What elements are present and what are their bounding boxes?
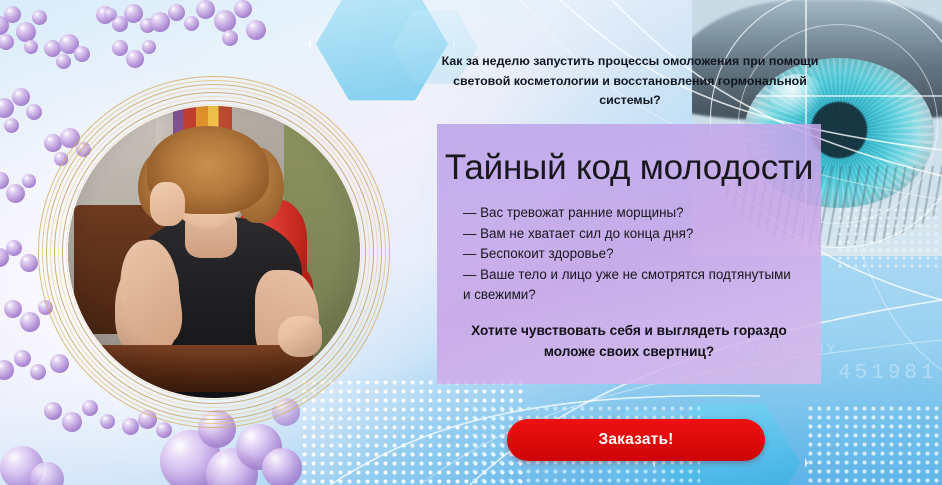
promo-banner: TECHNOLOGY 451981 MEDICAL <box>0 0 942 485</box>
cta-question-text: Хотите чувствовать себя и выглядеть гора… <box>451 320 807 362</box>
pain-point-list: — Вас тревожат ранние морщины? — Вам не … <box>463 203 805 306</box>
list-item: — Беспокоит здоровье? <box>463 244 805 265</box>
headline-text: Как за неделю запустить процессы омоложе… <box>436 52 824 111</box>
list-item-continuation: и свежими? <box>463 285 805 306</box>
list-item: — Ваше тело и лицо уже не смотрятся подт… <box>463 265 805 286</box>
content-panel: Тайный код молодости — Вас тревожат ранн… <box>437 124 821 384</box>
page-title: Тайный код молодости <box>437 150 821 185</box>
halftone-dot-grid <box>836 206 942 270</box>
order-button[interactable]: Заказать! <box>507 419 765 461</box>
bubble-sphere <box>262 448 302 485</box>
halftone-dot-grid <box>806 404 942 485</box>
portrait-frame <box>54 92 374 412</box>
list-item: — Вас тревожат ранние морщины? <box>463 203 805 224</box>
photo-vignette <box>68 106 360 398</box>
list-item: — Вам не хватает сил до конца дня? <box>463 224 805 245</box>
portrait-photo <box>68 106 360 398</box>
background-tech-number: 451981 <box>838 362 938 385</box>
